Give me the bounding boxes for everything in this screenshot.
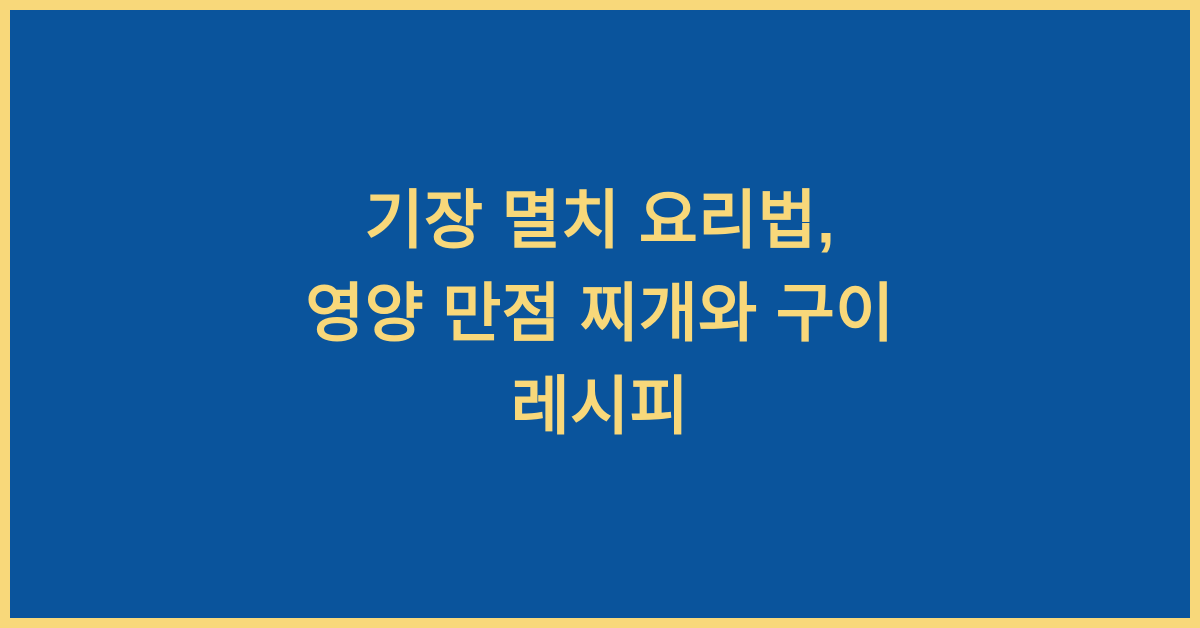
title-line-1: 기장 멸치 요리법,: [50, 175, 1150, 268]
title-line-3: 레시피: [50, 361, 1150, 454]
page-title: 기장 멸치 요리법, 영양 만점 찌개와 구이 레시피: [10, 175, 1190, 454]
title-line-2: 영양 만점 찌개와 구이: [50, 268, 1150, 361]
thumbnail-card: 기장 멸치 요리법, 영양 만점 찌개와 구이 레시피: [0, 0, 1200, 628]
